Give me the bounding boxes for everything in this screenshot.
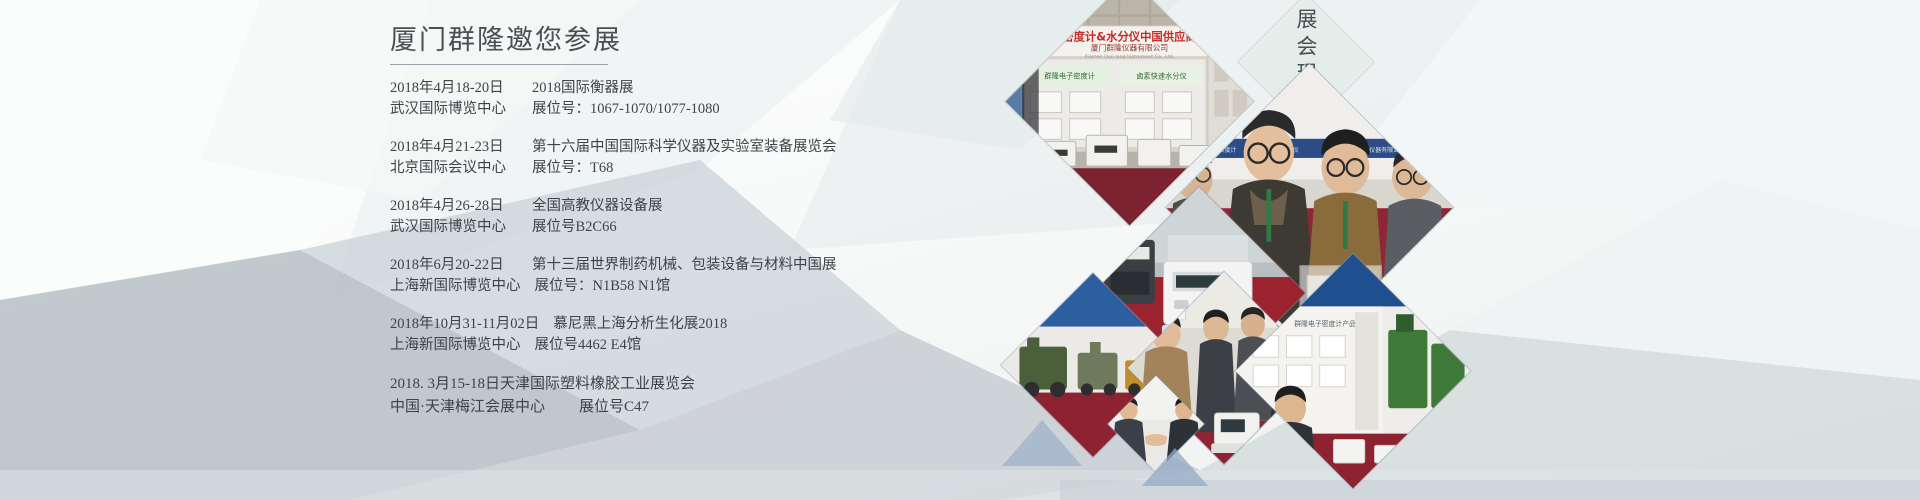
event-booth: 展位号4462 E4馆	[521, 335, 642, 356]
triangle-decoration-right	[1142, 448, 1208, 486]
svg-text:群隆电子密度计: 群隆电子密度计	[1044, 71, 1095, 80]
event-venue: 上海新国际博览中心	[390, 276, 521, 297]
booth-banner-caption: 密度计&水分仪中国供应商	[1062, 29, 1197, 43]
banner-stage: 厦门群隆邀您参展 2018年4月18-20日 2018国际衡器展 武汉国际博览中…	[0, 0, 1920, 500]
event-venue: 中国·天津梅江会展中心	[390, 396, 565, 419]
invitation-block: 厦门群隆邀您参展 2018年4月18-20日 2018国际衡器展 武汉国际博览中…	[390, 18, 950, 436]
event-item: 2018年4月26-28日 全国高教仪器设备展 武汉国际博览中心 展位号B2C6…	[390, 196, 950, 238]
event-venue: 北京国际会议中心	[390, 158, 518, 179]
svg-text:3nGPT: 3nGPT	[1408, 272, 1447, 286]
event-venue: 武汉国际博览中心	[390, 99, 518, 120]
event-item: 2018年6月20-22日 第十三届世界制药机械、包装设备与材料中国展 上海新国…	[390, 255, 950, 297]
background-polygons	[0, 0, 1920, 500]
event-row-top: 2018年4月26-28日 全国高教仪器设备展	[390, 196, 950, 217]
event-row-top: 2018年10月31-11月02日 慕尼黑上海分析生化展2018	[390, 314, 950, 335]
event-row-top: 2018年4月21-23日 第十六届中国国际科学仪器及实验室装备展览会	[390, 137, 950, 158]
event-date: 2018年4月21-23日	[390, 137, 518, 158]
event-date: 2018. 3月15-18日天津国际塑料橡胶工业展览会	[390, 373, 695, 396]
booth-banner-company-cn: 厦门群隆仪器有限公司	[1091, 42, 1168, 52]
title-divider	[390, 64, 608, 65]
photo-collage: 展会现场 密度计&水分仪中国供应商 厦门群隆仪器	[1020, 0, 1480, 500]
event-row-top: 2018. 3月15-18日天津国际塑料橡胶工业展览会	[390, 373, 950, 396]
event-name: 慕尼黑上海分析生化展2018	[539, 314, 727, 335]
event-name: 2018国际衡器展	[518, 78, 634, 99]
background-decoration	[0, 0, 1920, 500]
event-booth: 展位号B2C66	[518, 217, 617, 238]
event-date: 2018年10月31-11月02日	[390, 314, 539, 335]
event-row-bottom: 武汉国际博览中心 展位号B2C66	[390, 217, 950, 238]
event-name: 第十六届中国国际科学仪器及实验室装备展览会	[518, 137, 837, 158]
event-booth: 展位号：1067-1070/1077-1080	[518, 99, 720, 120]
event-name: 全国高教仪器设备展	[518, 196, 663, 217]
svg-text:群隆电子密度计产品: 群隆电子密度计产品	[1294, 319, 1356, 328]
demo-instrument	[1211, 413, 1262, 453]
event-row-bottom: 中国·天津梅江会展中心 展位号C47	[390, 396, 950, 419]
event-row-bottom: 上海新国际博览中心 展位号4462 E4馆	[390, 335, 950, 356]
event-date: 2018年4月26-28日	[390, 196, 518, 217]
event-item: 2018年10月31-11月02日 慕尼黑上海分析生化展2018 上海新国际博览…	[390, 314, 950, 356]
event-booth: 展位号：T68	[518, 158, 613, 179]
event-date: 2018年6月20-22日	[390, 255, 518, 276]
event-row-top: 2018年4月18-20日 2018国际衡器展	[390, 78, 950, 99]
event-booth: 展位号C47	[565, 396, 649, 419]
event-date: 2018年4月18-20日	[390, 78, 518, 99]
event-item: 2018年4月21-23日 第十六届中国国际科学仪器及实验室装备展览会 北京国际…	[390, 137, 950, 179]
booth-banner-company-en: Xiamen Qun long Instrument Co., Ltd.	[1085, 53, 1175, 59]
event-row-bottom: 北京国际会议中心 展位号：T68	[390, 158, 950, 179]
event-booth: 展位号：N1B58 N1馆	[521, 276, 671, 297]
event-item: 2018年4月18-20日 2018国际衡器展 武汉国际博览中心 展位号：106…	[390, 78, 950, 120]
event-row-bottom: 武汉国际博览中心 展位号：1067-1070/1077-1080	[390, 99, 950, 120]
event-venue: 上海新国际博览中心	[390, 335, 521, 356]
event-row-bottom: 上海新国际博览中心 展位号：N1B58 N1馆	[390, 276, 950, 297]
event-row-top: 2018年6月20-22日 第十三届世界制药机械、包装设备与材料中国展	[390, 255, 950, 276]
svg-text:卤素快速水分仪: 卤素快速水分仪	[1136, 71, 1187, 80]
event-venue: 武汉国际博览中心	[390, 217, 518, 238]
triangle-decoration-left	[1002, 420, 1082, 466]
event-name: 第十三届世界制药机械、包装设备与材料中国展	[518, 255, 837, 276]
page-title: 厦门群隆邀您参展	[390, 18, 950, 57]
event-item: 2018. 3月15-18日天津国际塑料橡胶工业展览会 中国·天津梅江会展中心 …	[390, 373, 950, 419]
